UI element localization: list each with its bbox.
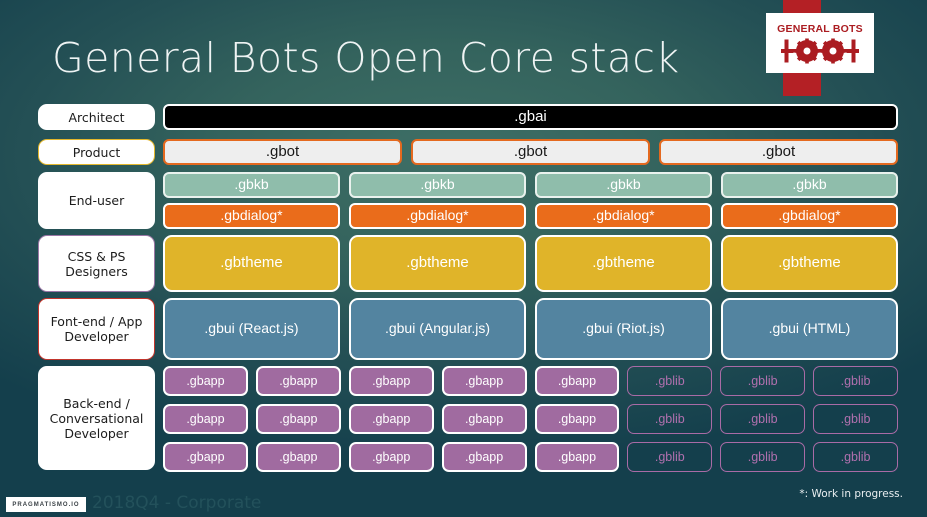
stack-gbot-3: .gbot <box>659 139 898 165</box>
stack-gblib-r1-c3: .gblib <box>813 366 898 396</box>
stack-gbui-1: .gbui (React.js) <box>163 298 340 360</box>
stack-gbai: .gbai <box>163 104 898 130</box>
stack-gblib-r2-c2: .gblib <box>720 404 805 434</box>
general-bots-logo-text: GENERAL BOTS <box>777 23 863 35</box>
stack-gblib-r1-c1: .gblib <box>627 366 712 396</box>
stack-gbot-1: .gbot <box>163 139 402 165</box>
stack-gbapp-r1-c4: .gbapp <box>442 366 527 396</box>
pragmatismo-logo: PRAGMATISMO.IO <box>6 497 86 512</box>
stack-gbapp-r1-c5: .gbapp <box>535 366 620 396</box>
stack-gblib-r3-c2: .gblib <box>720 442 805 472</box>
footer-edition-label: 2018Q4 - Corporate <box>92 493 261 513</box>
stack-gbapp-r3-c5: .gbapp <box>535 442 620 472</box>
gears-icon <box>781 35 859 64</box>
stack-gbapp-r1-c2: .gbapp <box>256 366 341 396</box>
role-label-5: Font-end / App Developer <box>38 298 155 360</box>
role-label-3: End-user <box>38 172 155 229</box>
stack-gbapp-r2-c4: .gbapp <box>442 404 527 434</box>
stack-gblib-r2-c3: .gblib <box>813 404 898 434</box>
stack-gblib-r1-c2: .gblib <box>720 366 805 396</box>
general-bots-logo: GENERAL BOTS <box>766 13 874 73</box>
page-title: General Bots Open Core stack <box>52 34 680 82</box>
stack-gbui-4: .gbui (HTML) <box>721 298 898 360</box>
stack-gbtheme-3: .gbtheme <box>535 235 712 292</box>
stack-gblib-r3-c3: .gblib <box>813 442 898 472</box>
stack-gbapp-r1-c1: .gbapp <box>163 366 248 396</box>
role-label-2: Product <box>38 139 155 165</box>
stack-gbdialog-1: .gbdialog* <box>163 203 340 229</box>
stack-gbapp-r3-c4: .gbapp <box>442 442 527 472</box>
stack-gbkb-3: .gbkb <box>535 172 712 198</box>
stack-gbapp-r2-c1: .gbapp <box>163 404 248 434</box>
stack-gbot-2: .gbot <box>411 139 650 165</box>
stack-gbapp-r2-c3: .gbapp <box>349 404 434 434</box>
stack-gbdialog-3: .gbdialog* <box>535 203 712 229</box>
stack-gbtheme-4: .gbtheme <box>721 235 898 292</box>
stack-gbdialog-2: .gbdialog* <box>349 203 526 229</box>
stack-gbapp-r3-c2: .gbapp <box>256 442 341 472</box>
stack-gbapp-r3-c1: .gbapp <box>163 442 248 472</box>
footer-wip-note: *: Work in progress. <box>799 488 903 500</box>
stack-gbkb-4: .gbkb <box>721 172 898 198</box>
stack-gbtheme-2: .gbtheme <box>349 235 526 292</box>
stack-gbapp-r1-c3: .gbapp <box>349 366 434 396</box>
stack-gbui-3: .gbui (Riot.js) <box>535 298 712 360</box>
stack-gblib-r3-c1: .gblib <box>627 442 712 472</box>
stack-gbtheme-1: .gbtheme <box>163 235 340 292</box>
pragmatismo-logo-text: PRAGMATISMO.IO <box>12 502 79 508</box>
role-label-4: CSS & PS Designers <box>38 235 155 292</box>
stack-gbkb-1: .gbkb <box>163 172 340 198</box>
slide-canvas: GENERAL BOTS <box>0 0 927 517</box>
stack-gbapp-r2-c2: .gbapp <box>256 404 341 434</box>
stack-gbui-2: .gbui (Angular.js) <box>349 298 526 360</box>
stack-gbapp-r3-c3: .gbapp <box>349 442 434 472</box>
role-label-1: Architect <box>38 104 155 130</box>
stack-gbdialog-4: .gbdialog* <box>721 203 898 229</box>
stack-gblib-r2-c1: .gblib <box>627 404 712 434</box>
stack-gbapp-r2-c5: .gbapp <box>535 404 620 434</box>
stack-gbkb-2: .gbkb <box>349 172 526 198</box>
role-label-6: Back-end / Conversational Developer <box>38 366 155 470</box>
